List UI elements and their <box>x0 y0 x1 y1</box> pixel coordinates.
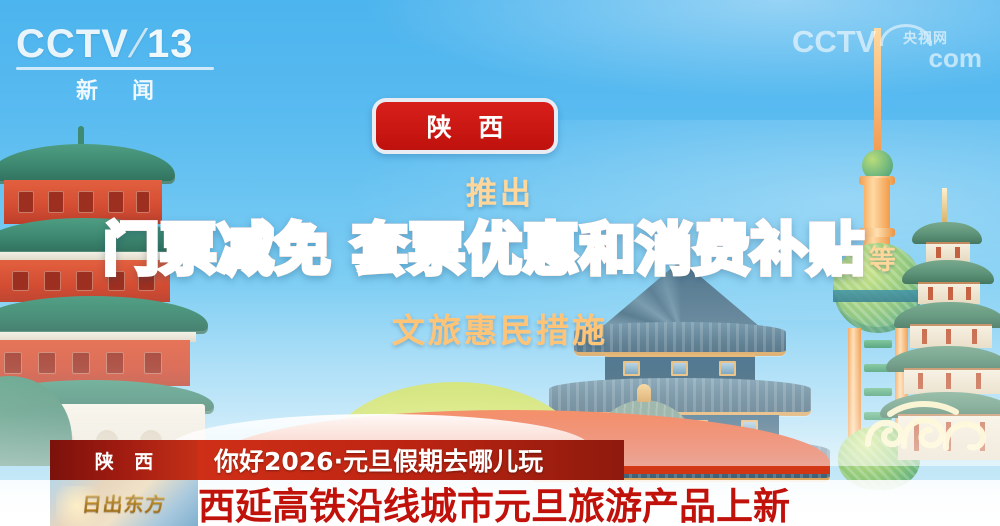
lower-third-headline-label: 西延高铁沿线城市元旦旅游产品上新 <box>198 476 790 526</box>
cctv-com-watermark: CCTV 央视网 com <box>792 26 982 76</box>
copy-line-2-main: 门票减免 套票优惠和消费补贴 <box>103 218 865 283</box>
pagoda-column <box>946 373 951 389</box>
copy-line-3: 文旅惠民措施 <box>0 304 1000 352</box>
pavilion-window <box>106 352 124 374</box>
copy-line-1: 推出 <box>0 168 1000 213</box>
pagoda-column <box>918 373 923 389</box>
program-logo: 日出东方 <box>50 480 198 526</box>
broadcast-screen: CCTV/13 新 闻 CCTV 央视网 com 陕 西 推出 门票减免 套票优… <box>0 0 1000 526</box>
channel-logo: CCTV/13 新 闻 <box>16 22 226 90</box>
lower-third-kicker-row: 陕 西 你好2026·元旦假期去哪儿玩 <box>50 440 770 480</box>
dome-finial <box>637 384 651 402</box>
province-badge-label: 陕 西 <box>418 108 513 144</box>
lower-third-headline-row: 日出东方 西延高铁沿线城市元旦旅游产品上新 <box>0 480 1000 526</box>
temple-window <box>671 361 688 376</box>
pavilion-finial <box>78 126 84 146</box>
channel-logo-subtitle: 新 闻 <box>16 73 214 105</box>
lower-third-topic-label: 你好2026·元旦假期去哪儿玩 <box>214 442 543 478</box>
temple-window <box>623 361 640 376</box>
copy-line-2: 门票减免 套票优惠和消费补贴等 <box>0 219 1000 293</box>
lower-third-topic-bar: 你好2026·元旦假期去哪儿玩 <box>198 440 624 480</box>
lower-third-province-label: 陕 西 <box>88 447 161 474</box>
pavilion-window <box>72 352 90 374</box>
pavilion-window <box>144 352 162 374</box>
province-badge: 陕 西 <box>372 98 558 154</box>
copy-line-2-suffix: 等 <box>869 245 897 276</box>
pagoda-body-4 <box>904 368 1000 394</box>
main-copy-block: 推出 门票减免 套票优惠和消费补贴等 文旅惠民措施 <box>0 168 1000 352</box>
pagoda-column <box>976 373 981 389</box>
lower-third-province-tag: 陕 西 <box>50 440 198 480</box>
temple-window <box>719 361 736 376</box>
lower-third-headline: 西延高铁沿线城市元旦旅游产品上新 <box>198 480 790 526</box>
temple-roof-tier-2 <box>549 378 811 416</box>
lower-third: 陕 西 你好2026·元旦假期去哪儿玩 日出东方 西延高铁沿线城市元旦旅游产品上… <box>0 440 1000 526</box>
pavilion-window <box>38 352 56 374</box>
channel-logo-cctv: CCTV <box>16 22 129 66</box>
channel-logo-number: 13 <box>147 22 194 66</box>
program-logo-label: 日出东方 <box>50 488 198 517</box>
watermark-domain: com <box>929 43 982 74</box>
pavilion-window <box>4 352 22 374</box>
channel-logo-wordmark: CCTV/13 <box>16 22 226 66</box>
channel-logo-underline <box>16 67 214 70</box>
